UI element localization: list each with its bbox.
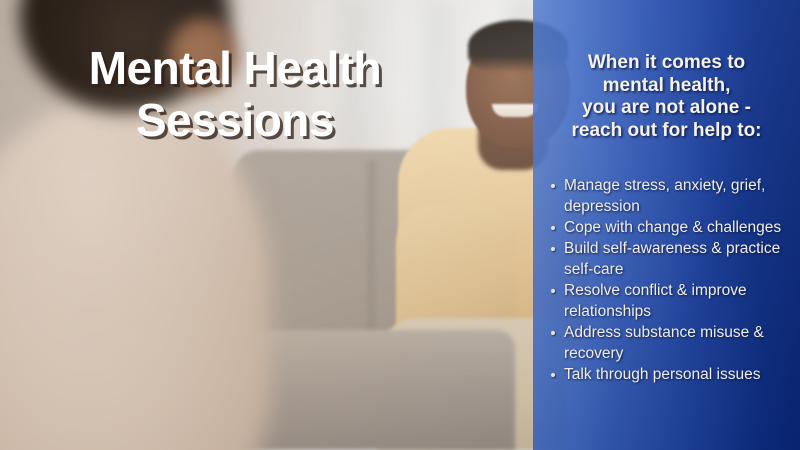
panel-heading-line-4: reach out for help to: bbox=[541, 120, 792, 143]
list-item: Resolve conflict & improve relationships bbox=[549, 280, 793, 322]
panel-heading: When it comes to mental health, you are … bbox=[541, 52, 792, 142]
panel-heading-line-3: you are not alone - bbox=[541, 97, 792, 120]
info-panel: When it comes to mental health, you are … bbox=[533, 0, 800, 450]
list-item: Cope with change & challenges bbox=[549, 217, 793, 238]
slide-canvas: Mental Health Sessions When it comes to … bbox=[0, 0, 800, 450]
panel-content: When it comes to mental health, you are … bbox=[533, 0, 800, 450]
title-line-1: Mental Health bbox=[30, 42, 440, 94]
panel-heading-line-1: When it comes to bbox=[541, 52, 792, 75]
list-item: Talk through personal issues bbox=[549, 364, 793, 385]
page-title: Mental Health Sessions bbox=[30, 42, 440, 146]
benefit-list: Manage stress, anxiety, grief, depressio… bbox=[549, 175, 793, 385]
panel-heading-line-2: mental health, bbox=[541, 75, 792, 98]
list-item: Build self-awareness & practice self-car… bbox=[549, 238, 793, 280]
list-item: Manage stress, anxiety, grief, depressio… bbox=[549, 175, 793, 217]
title-line-2: Sessions bbox=[30, 94, 440, 146]
list-item: Address substance misuse & recovery bbox=[549, 322, 793, 364]
